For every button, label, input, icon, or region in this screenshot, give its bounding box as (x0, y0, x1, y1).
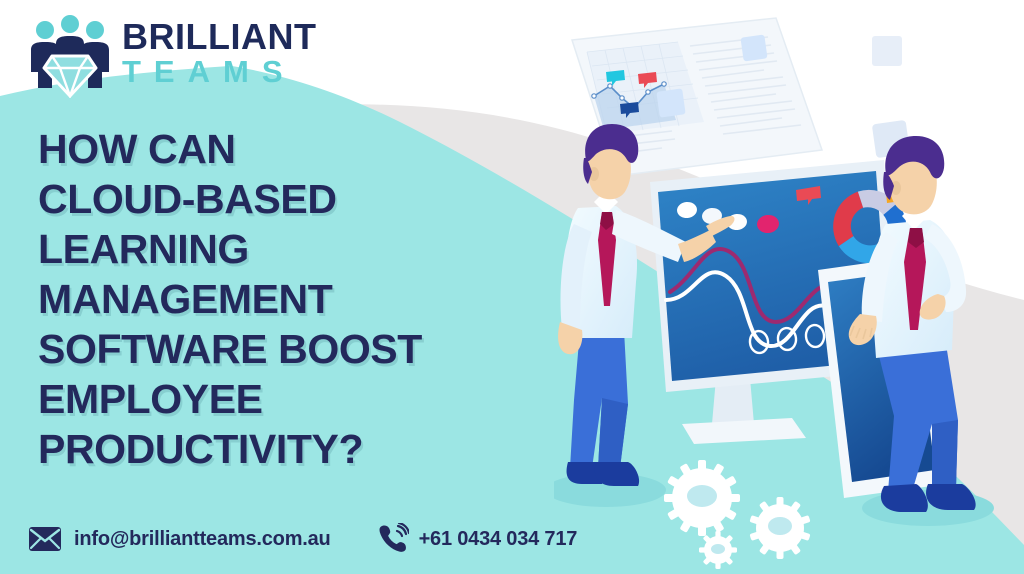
diamond-people-logo-icon (22, 10, 118, 98)
headline-line-6: EMPLOYEE (38, 374, 568, 424)
headline-line-7: PRODUCTIVITY? (38, 424, 568, 474)
contact-phone-text: +61 0434 034 717 (419, 528, 578, 551)
envelope-icon (28, 524, 62, 554)
headline-line-5: SOFTWARE BOOST (38, 324, 568, 374)
gears-icon (664, 460, 811, 569)
headline-line-1: HOW CAN (38, 124, 568, 174)
contact-email-text: info@brilliantteams.com.au (74, 528, 331, 551)
phone-ringing-icon (379, 523, 409, 555)
contact-phone[interactable]: +61 0434 034 717 (379, 523, 578, 555)
contact-bar: info@brilliantteams.com.au +61 0434 034 … (28, 518, 577, 560)
logo-secondary-text: TEAMS (122, 54, 312, 90)
headline-line-4: MANAGEMENT (38, 274, 568, 324)
headline-line-3: LEARNING (38, 224, 568, 274)
brand-logo[interactable]: BRILLIANT TEAMS (22, 8, 312, 100)
headline-line-2: CLOUD-BASED (38, 174, 568, 224)
headline: HOW CAN CLOUD-BASED LEARNING MANAGEMENT … (38, 124, 568, 474)
hero-illustration (554, 0, 1024, 574)
promo-banner: BRILLIANT TEAMS HOW CAN CLOUD-BASED LEAR… (0, 0, 1024, 574)
contact-email[interactable]: info@brilliantteams.com.au (28, 524, 331, 554)
logo-primary-text: BRILLIANT (122, 20, 312, 54)
